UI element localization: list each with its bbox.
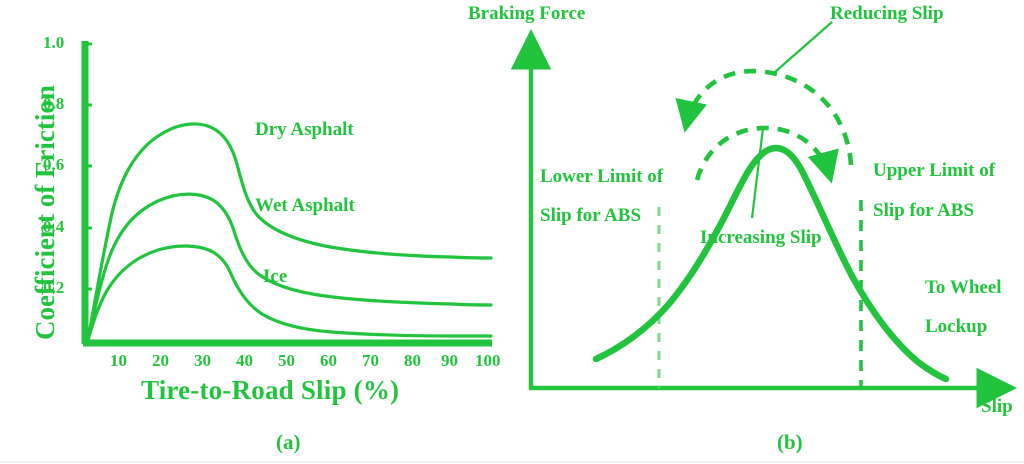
series-label-ice: Ice (263, 266, 287, 288)
panel-a-ytick-0.2: 0.2 (43, 278, 64, 298)
panel-a-ytick-1.0: 1.0 (43, 33, 64, 53)
annotation-increasing-slip: Increasing Slip (700, 227, 822, 249)
increasing-slip-leader-line (752, 128, 763, 218)
panel-a-xtick-80: 80 (404, 351, 421, 371)
panel-a-ytick-0.6: 0.6 (43, 155, 64, 175)
panel-a-x-axis-title: Tire-to-Road Slip (%) (141, 375, 399, 406)
curve-dry-asphalt (88, 124, 491, 340)
figure-root: Coefficient of Friction 1.0 0.8 0.6 0.4 … (0, 0, 1024, 464)
panel-a-xtick-10: 10 (110, 351, 127, 371)
panel-a-xtick-50: 50 (278, 351, 295, 371)
panel-a-xtick-40: 40 (236, 351, 253, 371)
panel-b-y-axis-title: Braking Force (468, 3, 585, 25)
panel-a-xtick-100: 100 (475, 351, 501, 371)
series-label-dry-asphalt: Dry Asphalt (255, 119, 354, 141)
panel-a-xtick-70: 70 (362, 351, 379, 371)
curve-ice (88, 246, 491, 340)
annotation-upper-limit-line2: Slip for ABS (873, 200, 974, 222)
panel-a-caption: (a) (276, 430, 301, 455)
annotation-reducing-slip: Reducing Slip (830, 3, 944, 25)
panel-a-ytick-0.8: 0.8 (43, 94, 64, 114)
annotation-to-wheel-line1: To Wheel (925, 277, 1002, 299)
panel-a-axes (82, 41, 492, 344)
panel-a-y-axis-title: Coefficient of Friction (30, 85, 61, 340)
panel-a-xtick-20: 20 (152, 351, 169, 371)
panel-a-xtick-30: 30 (194, 351, 211, 371)
panel-b-x-axis-title: Slip (981, 396, 1013, 418)
annotation-to-wheel-line2: Lockup (925, 316, 987, 338)
annotation-lower-limit-line2: Slip for ABS (540, 205, 641, 227)
annotation-lower-limit-line1: Lower Limit of (540, 166, 663, 188)
annotation-upper-limit-line1: Upper Limit of (873, 160, 995, 182)
reducing-slip-leader-line (775, 22, 832, 72)
series-label-wet-asphalt: Wet Asphalt (255, 195, 355, 217)
panel-a-xtick-60: 60 (320, 351, 337, 371)
panel-b-caption: (b) (777, 430, 803, 455)
panel-a-ytick-0.4: 0.4 (43, 217, 64, 237)
panel-a-xtick-90: 90 (441, 351, 458, 371)
